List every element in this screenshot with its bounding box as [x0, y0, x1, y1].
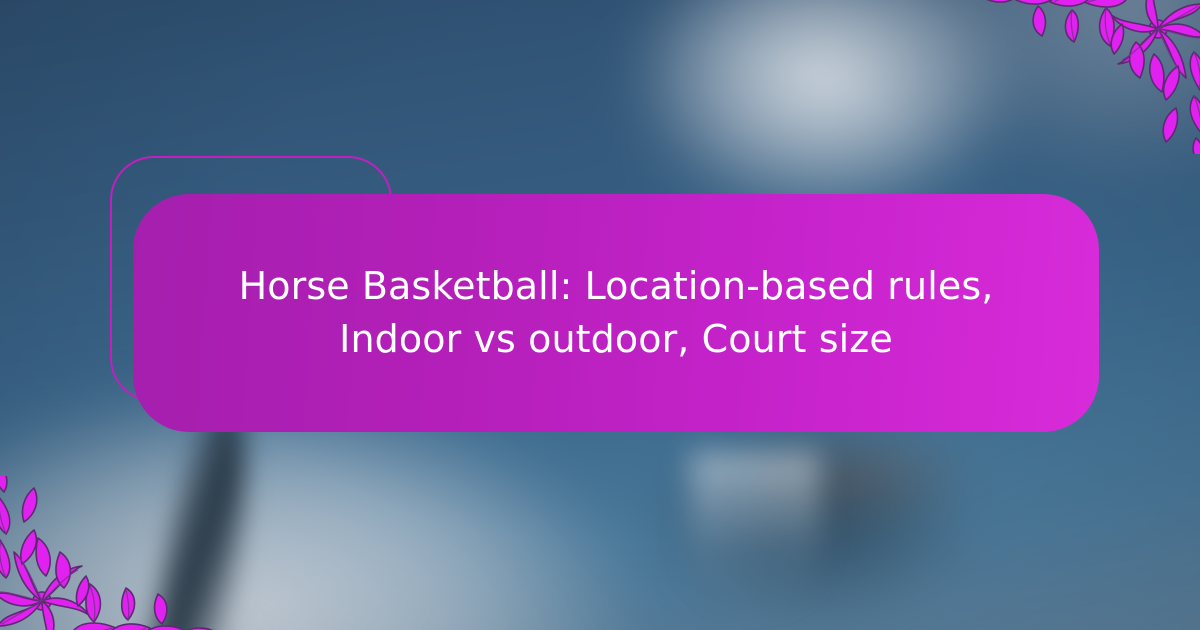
title-card: Horse Basketball: Location-based rules, … — [133, 194, 1099, 432]
page-title: Horse Basketball: Location-based rules, … — [133, 260, 1099, 366]
share-card-canvas: Horse Basketball: Location-based rules, … — [0, 0, 1200, 630]
